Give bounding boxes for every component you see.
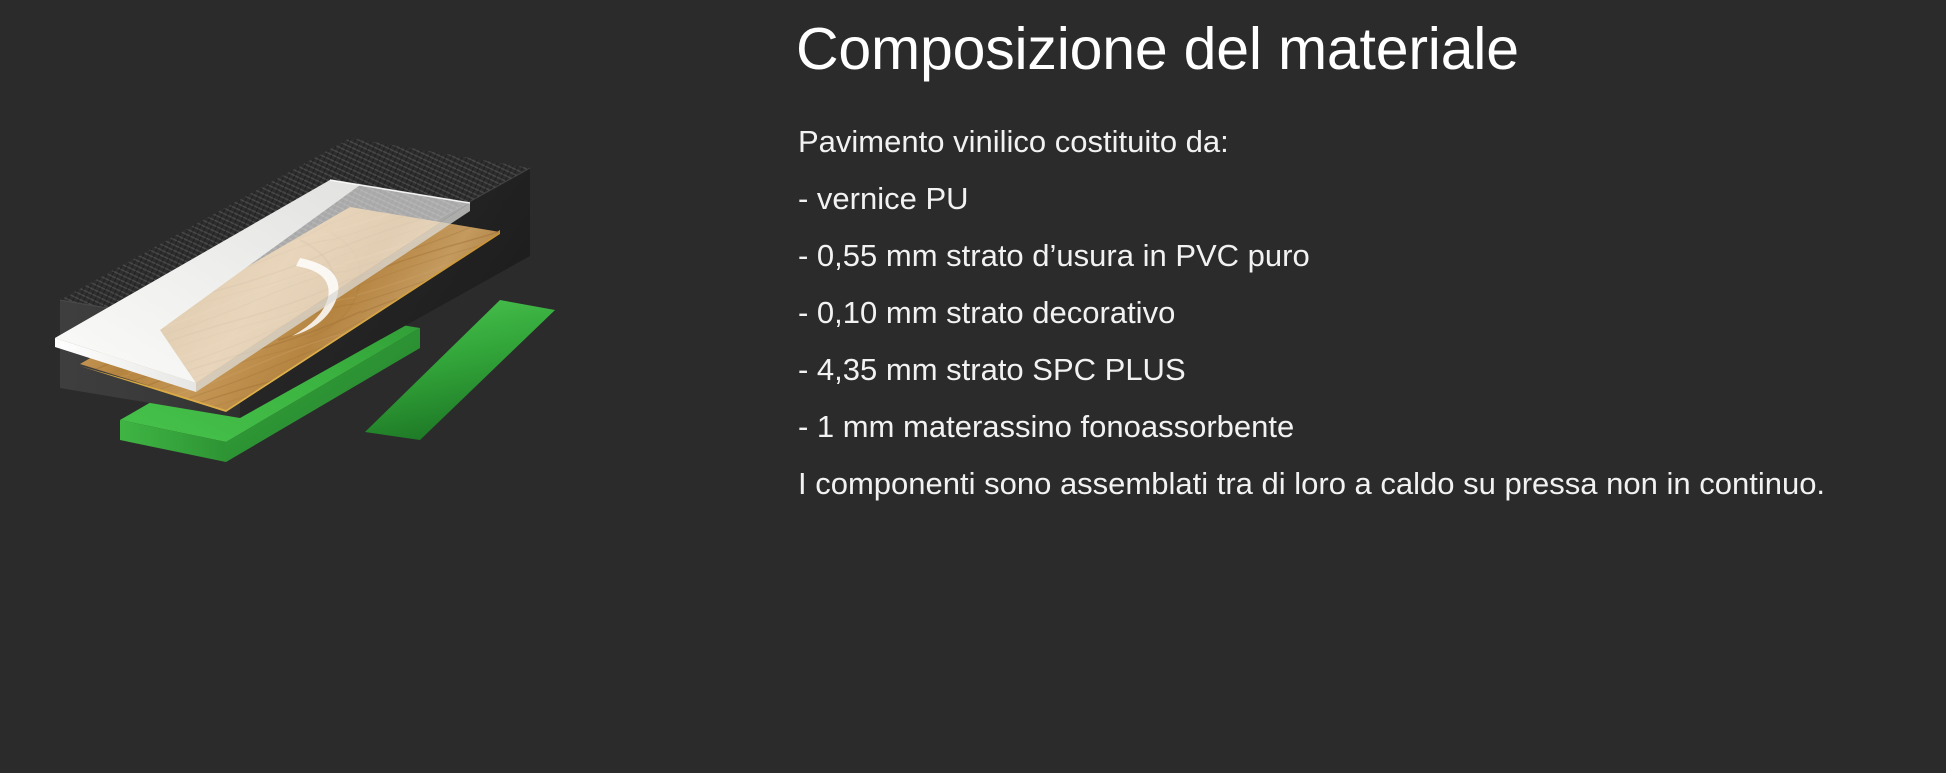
list-item: - vernice PU bbox=[798, 180, 1310, 237]
list-item: - 1 mm materassino fonoassorbente bbox=[798, 408, 1310, 465]
list-item: - 0,55 mm strato d’usura in PVC puro bbox=[798, 237, 1310, 294]
intro-line: Pavimento vinilico costituito da: bbox=[798, 123, 1229, 160]
figure-pane bbox=[0, 0, 790, 773]
page-title: Composizione del materiale bbox=[796, 16, 1519, 84]
closing-note: I componenti sono assemblati tra di loro… bbox=[798, 464, 1876, 505]
text-pane: Composizione del materiale Pavimento vin… bbox=[790, 0, 1946, 773]
material-composition-slide: Composizione del materiale Pavimento vin… bbox=[0, 0, 1946, 773]
list-item: - 0,10 mm strato decorativo bbox=[798, 294, 1310, 351]
exploded-3d-flooring-layers-figure bbox=[0, 0, 790, 773]
list-item: - 4,35 mm strato SPC PLUS bbox=[798, 351, 1310, 408]
layer-list: - vernice PU - 0,55 mm strato d’usura in… bbox=[798, 180, 1310, 465]
